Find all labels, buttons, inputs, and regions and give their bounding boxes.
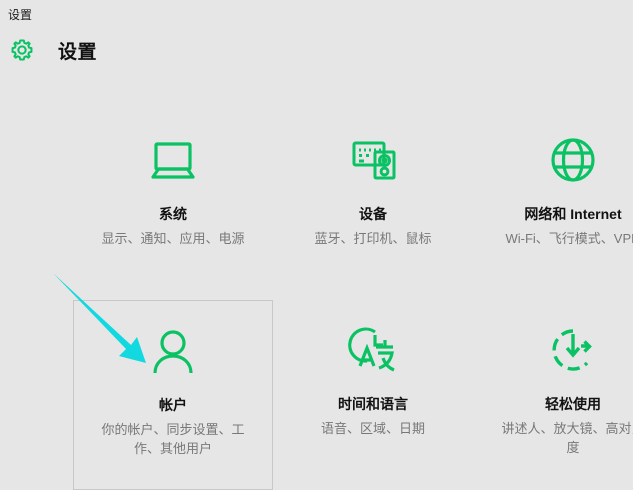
page-title: 设置	[58, 37, 97, 64]
window-title-label: 设置	[8, 8, 32, 22]
ease-of-access-icon	[545, 322, 601, 378]
globe-icon	[545, 132, 601, 188]
settings-tile-system[interactable]: 系统 显示、通知、应用、电源	[73, 110, 273, 300]
clock-language-icon	[345, 322, 401, 378]
settings-tile-ease-of-access[interactable]: 轻松使用 讲述人、放大镜、高对比度	[473, 300, 633, 490]
tile-description: 显示、通知、应用、电源	[98, 229, 248, 248]
window-titlebar: 设置	[0, 0, 633, 28]
tile-title: 轻松使用	[545, 394, 601, 414]
person-icon	[145, 323, 201, 379]
tile-title: 网络和 Internet	[524, 204, 621, 224]
tile-description: Wi-Fi、飞行模式、VPN	[498, 229, 633, 248]
tile-description: 讲述人、放大镜、高对比度	[498, 419, 633, 457]
settings-tile-devices[interactable]: 设备 蓝牙、打印机、鼠标	[273, 110, 473, 300]
tile-title: 设备	[359, 204, 387, 224]
keyboard-mouse-icon	[345, 132, 401, 188]
tile-description: 语音、区域、日期	[298, 419, 448, 438]
laptop-icon	[145, 132, 201, 188]
tile-description: 你的帐户、同步设置、工作、其他用户	[98, 420, 248, 458]
tile-title: 帐户	[159, 395, 187, 415]
tile-title: 系统	[159, 204, 187, 224]
settings-tile-network[interactable]: 网络和 Internet Wi-Fi、飞行模式、VPN	[473, 110, 633, 300]
tile-description: 蓝牙、打印机、鼠标	[298, 229, 448, 248]
gear-icon	[8, 36, 36, 64]
settings-tile-accounts[interactable]: 帐户 你的帐户、同步设置、工作、其他用户	[73, 300, 273, 490]
settings-header: 设置	[0, 28, 633, 72]
settings-tile-grid: 系统 显示、通知、应用、电源 设备 蓝牙、打印机、鼠标	[73, 110, 633, 490]
settings-tile-time-language[interactable]: 时间和语言 语音、区域、日期	[273, 300, 473, 490]
tile-title: 时间和语言	[338, 394, 408, 414]
